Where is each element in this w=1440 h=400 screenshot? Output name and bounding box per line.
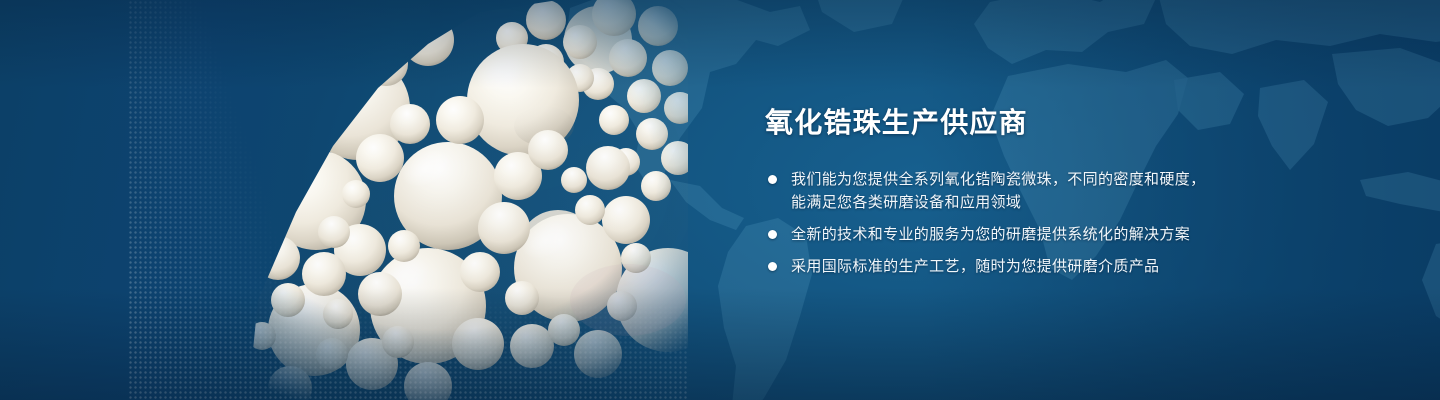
banner-headline: 氧化锆珠生产供应商 — [765, 104, 1385, 142]
banner-feature-list: 我们能为您提供全系列氧化锆陶瓷微珠，不同的密度和硬度， 能满足您各类研磨设备和应… — [765, 168, 1385, 278]
bullet-dot-icon — [768, 175, 777, 184]
bullet-dot-icon — [768, 230, 777, 239]
bullet-text-line: 我们能为您提供全系列氧化锆陶瓷微珠，不同的密度和硬度， — [791, 168, 1385, 191]
bullet-text-line: 全新的技术和专业的服务为您的研磨提供系统化的解决方案 — [791, 223, 1385, 246]
bullet-text-line: 采用国际标准的生产工艺，随时为您提供研磨介质产品 — [791, 255, 1385, 278]
list-item: 全新的技术和专业的服务为您的研磨提供系统化的解决方案 — [765, 223, 1385, 246]
banner-text-column: 氧化锆珠生产供应商 我们能为您提供全系列氧化锆陶瓷微珠，不同的密度和硬度， 能满… — [765, 104, 1385, 278]
bullet-dot-icon — [768, 262, 777, 271]
list-item: 采用国际标准的生产工艺，随时为您提供研磨介质产品 — [765, 255, 1385, 278]
zirconia-beads-hero-banner: 氧化锆珠生产供应商 我们能为您提供全系列氧化锆陶瓷微珠，不同的密度和硬度， 能满… — [0, 0, 1440, 400]
bullet-text-line: 能满足您各类研磨设备和应用领域 — [791, 191, 1385, 214]
list-item: 我们能为您提供全系列氧化锆陶瓷微珠，不同的密度和硬度， 能满足您各类研磨设备和应… — [765, 168, 1385, 214]
